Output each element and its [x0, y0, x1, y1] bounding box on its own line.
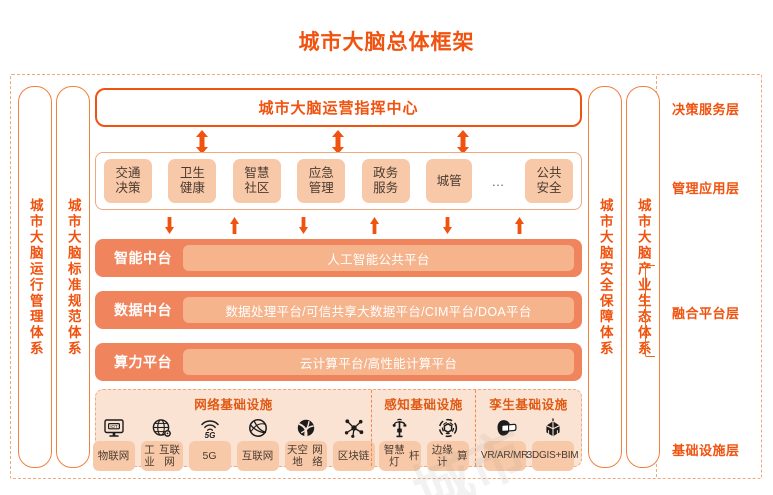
layer-label-management-application: 管理应用层: [672, 178, 740, 197]
infra-item-edge-computing[interactable]: 边缘计算: [427, 415, 469, 471]
infra-group-title: 孪生基础设施: [489, 394, 568, 413]
edge-computing-hexagon-icon: [437, 415, 459, 439]
infra-label-line1: 3D: [527, 450, 539, 462]
pillar-label: 城市大脑标准规范体系: [66, 198, 80, 357]
application-row: 交通 决策 卫生 健康 智慧 社区 应急 管理 政务 服务 城管 … 公共 安全: [95, 152, 582, 210]
app-tile-line1: 城管: [437, 174, 462, 189]
space-air-ground-globe-icon: [295, 415, 317, 439]
pillar-security-assurance[interactable]: 城市大脑安全保障体系: [588, 86, 622, 468]
platform-label: 算力平台: [103, 352, 183, 372]
infra-item-label: 智慧灯杆: [379, 441, 421, 471]
arrow-up-icon: [370, 217, 379, 234]
infra-group-title: 感知基础设施: [384, 394, 463, 413]
platform-body: 数据处理平台/可信共享大数据平台/CIM平台/DOA平台: [183, 297, 574, 323]
app-tile-traffic-decision[interactable]: 交通 决策: [104, 159, 152, 203]
infra-label-line1: 工业: [142, 444, 158, 468]
infra-item-vr-ar-mr[interactable]: VR/AR/MR: [484, 415, 526, 471]
svg-text:IOT: IOT: [110, 424, 118, 429]
app-tile-government-service[interactable]: 政务 服务: [362, 159, 410, 203]
arrow-down-icon: [165, 217, 174, 234]
app-tile-line2: 安全: [536, 181, 561, 196]
infra-item-label: VR/AR/MR: [484, 441, 526, 471]
command-center-box[interactable]: 城市大脑运营指挥中心: [95, 88, 582, 127]
app-tile-line2: 健康: [180, 181, 205, 196]
platform-label: 智能中台: [103, 248, 183, 268]
infrastructure-band: 网络基础设施 IOT 物联网 工业互联网: [95, 389, 582, 467]
arrow-up-icon: [515, 217, 524, 234]
platform-label: 数据中台: [103, 300, 183, 320]
infra-item-smart-lamp-pole[interactable]: 智慧灯杆: [379, 415, 421, 471]
pillar-standard-specification[interactable]: 城市大脑标准规范体系: [56, 86, 90, 468]
pillar-operation-management[interactable]: 城市大脑运行管理体系: [18, 86, 52, 468]
infra-item-label: 区块链: [333, 441, 375, 471]
double-arrow-icon: [195, 130, 209, 154]
infra-group-title: 网络基础设施: [194, 394, 273, 413]
infra-label-line1: VR/AR/: [481, 450, 513, 462]
app-tile-line1: 应急: [309, 166, 334, 181]
infra-item-label: 边缘计算: [427, 441, 469, 471]
infra-group-digital-twin: 孪生基础设施 VR/AR/MR 3DGIS+BIM: [475, 390, 581, 466]
infra-group-network: 网络基础设施 IOT 物联网 工业互联网: [96, 390, 371, 466]
infra-item-blockchain[interactable]: 区块链: [333, 415, 375, 471]
infra-item-label: 互联网: [237, 441, 279, 471]
app-tile-line2: 服务: [373, 181, 398, 196]
app-tile-line1: 交通: [115, 166, 140, 181]
infra-item-label: 5G: [189, 441, 231, 471]
infra-label-line2: 杆: [409, 450, 420, 462]
industrial-globe-gear-icon: [151, 415, 173, 439]
blockchain-nodes-icon: [343, 415, 365, 439]
app-tile-line1: 智慧: [244, 166, 269, 181]
double-arrow-icon: [456, 130, 470, 154]
arrow-up-icon: [230, 217, 239, 234]
infra-label-line1: 边缘计: [428, 444, 458, 468]
infra-item-label: 天空地网络: [285, 441, 327, 471]
arrow-down-icon: [443, 217, 452, 234]
arrow-down-icon: [299, 217, 308, 234]
app-tile-line2: 决策: [115, 181, 140, 196]
infra-label-line2: 网络: [310, 444, 326, 468]
infra-item-label: 物联网: [93, 441, 135, 471]
app-tile-line1: 卫生: [180, 166, 205, 181]
app-tile-line1: 公共: [536, 166, 561, 181]
infra-item-industrial-internet[interactable]: 工业互联网: [141, 415, 183, 471]
infra-label-line1: 智慧灯: [380, 444, 410, 468]
pillar-label: 城市大脑安全保障体系: [598, 198, 612, 357]
platform-body: 人工智能公共平台: [183, 245, 574, 271]
infra-item-label: 3DGIS+BIM: [532, 441, 574, 471]
infra-item-label: 工业互联网: [141, 441, 183, 471]
iot-monitor-icon: IOT: [103, 415, 125, 439]
infra-item-3d-gis-bim[interactable]: 3DGIS+BIM: [532, 415, 574, 471]
infra-group-sensing: 感知基础设施 智慧灯杆 边缘计算: [371, 390, 475, 466]
infra-label-line2: 互联网: [158, 444, 182, 468]
app-tile-line2: 管理: [309, 181, 334, 196]
internet-globe-icon: [247, 415, 269, 439]
platform-row-intelligent-midend[interactable]: 智能中台 人工智能公共平台: [95, 239, 582, 277]
3d-building-icon: [542, 415, 564, 439]
fusion-platform-bracket: [645, 265, 655, 357]
diagram-canvas: 城市大脑总体框架 城市大脑运行管理体系 城市大脑标准规范体系 城市大脑安全保障体…: [0, 0, 773, 494]
layer-label-decision-service: 决策服务层: [672, 99, 740, 118]
app-tile-urban-management[interactable]: 城管: [426, 159, 472, 203]
page-title: 城市大脑总体框架: [0, 26, 773, 56]
wifi-5g-icon: 5G: [199, 415, 221, 439]
app-tile-smart-community[interactable]: 智慧 社区: [233, 159, 281, 203]
svg-text:5G: 5G: [204, 431, 215, 439]
smart-lamp-pole-icon: [389, 415, 411, 439]
app-tile-emergency-management[interactable]: 应急 管理: [297, 159, 345, 203]
app-tile-public-security[interactable]: 公共 安全: [525, 159, 573, 203]
double-arrow-icon: [331, 130, 345, 154]
platform-row-computing-power[interactable]: 算力平台 云计算平台/高性能计算平台: [95, 343, 582, 381]
layer-label-fusion-platform: 融合平台层: [672, 303, 740, 322]
infra-item-5g[interactable]: 5G 5G: [189, 415, 231, 471]
vr-headset-icon: [493, 415, 517, 439]
infra-item-internet[interactable]: 互联网: [237, 415, 279, 471]
infra-item-space-air-ground-network[interactable]: 天空地网络: [285, 415, 327, 471]
app-tile-health[interactable]: 卫生 健康: [168, 159, 216, 203]
infra-label-line1: 天空地: [286, 444, 310, 468]
layer-label-infrastructure: 基础设施层: [672, 440, 740, 459]
app-tile-line2: 社区: [244, 181, 269, 196]
infra-item-iot[interactable]: IOT 物联网: [93, 415, 135, 471]
app-tile-line1: 政务: [373, 166, 398, 181]
app-tile-more-ellipsis: …: [489, 174, 509, 189]
pillar-label: 城市大脑运行管理体系: [28, 198, 42, 357]
infra-label-line2: GIS+BIM: [539, 450, 578, 462]
platform-body: 云计算平台/高性能计算平台: [183, 349, 574, 375]
platform-row-data-midend[interactable]: 数据中台 数据处理平台/可信共享大数据平台/CIM平台/DOA平台: [95, 291, 582, 329]
infra-label-line2: 算: [457, 450, 468, 462]
